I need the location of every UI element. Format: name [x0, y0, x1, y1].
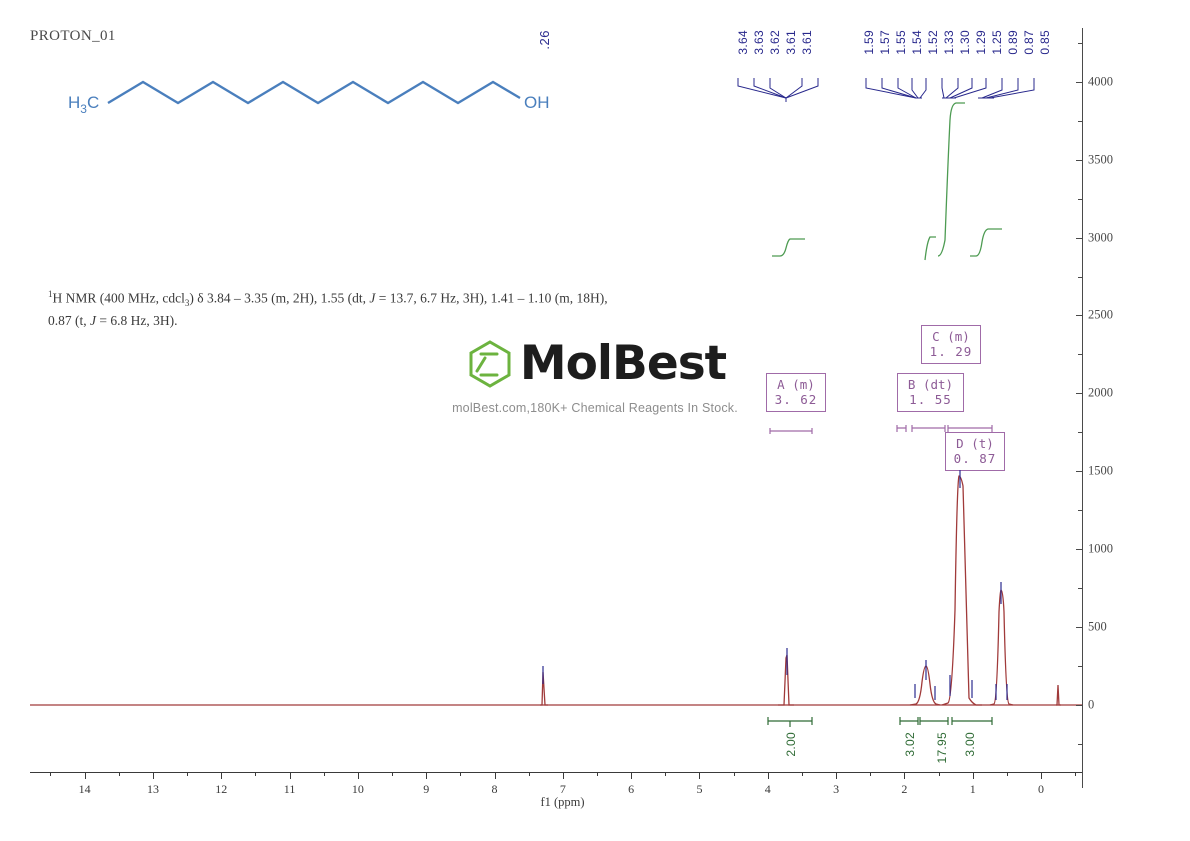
multiplet-D-id: D — [956, 436, 964, 451]
x-tick-2 — [904, 772, 905, 779]
multiplet-A-id: A — [777, 377, 785, 392]
watermark-tagline: molBest.com,180K+ Chemical Reagents In S… — [445, 401, 745, 415]
molecule-right-label: OH — [524, 93, 550, 112]
x-tick-12 — [221, 772, 222, 779]
y-tick-2500 — [1076, 315, 1083, 316]
molecule-left-label: H3C — [68, 93, 99, 116]
nmr-description: 1H NMR (400 MHz, cdcl3) δ 3.84 – 3.35 (m… — [48, 286, 608, 329]
y-minor-tick — [1078, 432, 1083, 433]
integral-markers — [760, 714, 1020, 728]
multiplet-B-type: (dt) — [923, 377, 953, 392]
y-minor-tick — [1078, 354, 1083, 355]
x-minor-tick — [665, 772, 666, 776]
peak-label-b-8: 1.25 — [990, 30, 1004, 55]
molecule-chain — [108, 82, 520, 103]
nmr-spectrum-trace — [30, 470, 1082, 710]
x-tick-13 — [153, 772, 154, 779]
integral-value-3: 3.00 — [963, 732, 977, 757]
multiplet-C-type: (m) — [947, 329, 970, 344]
nmr-line2-b: = 6.8 Hz, 3H). — [96, 313, 177, 328]
nmr-line1-a: H NMR (400 MHz, cdcl — [53, 291, 185, 306]
x-tick-1 — [973, 772, 974, 779]
y-tick-1500 — [1076, 471, 1083, 472]
peak-label-b-3: 1.54 — [910, 30, 924, 55]
x-tick-10 — [358, 772, 359, 779]
x-axis-title: f1 (ppm) — [0, 795, 1125, 810]
y-tick-1000 — [1076, 549, 1083, 550]
cdcl3-peak-label: .26 — [537, 30, 552, 50]
x-minor-tick — [460, 772, 461, 776]
peak-label-a-4: 3.61 — [800, 30, 814, 55]
y-tick-label-0: 0 — [1088, 698, 1094, 713]
peak-label-b-7: 1.29 — [974, 30, 988, 55]
peak-label-b-5: 1.33 — [942, 30, 956, 55]
x-minor-tick — [255, 772, 256, 776]
y-tick-label-2500: 2500 — [1088, 308, 1113, 323]
y-minor-tick — [1078, 744, 1083, 745]
peak-label-b-9: 0.89 — [1006, 30, 1020, 55]
y-axis-line — [1082, 28, 1083, 788]
peak-label-b-4: 1.52 — [926, 30, 940, 55]
peak-label-a-1: 3.63 — [752, 30, 766, 55]
x-minor-tick — [597, 772, 598, 776]
multiplet-box-A[interactable]: A (m) 3. 62 — [766, 373, 826, 412]
multiplet-B-shift: 1. 55 — [903, 392, 958, 407]
y-tick-3000 — [1076, 238, 1083, 239]
peak-label-b-1: 1.57 — [878, 30, 892, 55]
page-title: PROTON_01 — [30, 28, 116, 45]
x-tick-11 — [290, 772, 291, 779]
y-tick-label-1000: 1000 — [1088, 542, 1113, 557]
y-tick-label-500: 500 — [1088, 620, 1107, 635]
multiplet-brackets — [760, 420, 1020, 434]
x-minor-tick — [187, 772, 188, 776]
peak-label-b-2: 1.55 — [894, 30, 908, 55]
x-tick-8 — [495, 772, 496, 779]
x-minor-tick — [50, 772, 51, 776]
molecule-structure: H3C OH — [60, 55, 560, 125]
x-minor-tick — [734, 772, 735, 776]
multiplet-D-type: (t) — [971, 436, 994, 451]
x-tick-3 — [836, 772, 837, 779]
x-tick-7 — [563, 772, 564, 779]
watermark-brand-name: MolBest — [520, 340, 726, 388]
integral-value-2: 17.95 — [935, 732, 949, 764]
y-tick-label-3500: 3500 — [1088, 152, 1113, 167]
integration-curves — [760, 90, 1020, 260]
y-tick-2000 — [1076, 393, 1083, 394]
peak-label-a-2: 3.62 — [768, 30, 782, 55]
molbest-watermark: MolBest molBest.com,180K+ Chemical Reage… — [445, 338, 745, 415]
y-tick-label-3000: 3000 — [1088, 230, 1113, 245]
multiplet-D-shift: 0. 87 — [951, 451, 999, 466]
peak-label-b-6: 1.30 — [958, 30, 972, 55]
x-tick-0 — [1041, 772, 1042, 779]
multiplet-B-id: B — [908, 377, 916, 392]
y-tick-0 — [1076, 705, 1083, 706]
x-minor-tick — [119, 772, 120, 776]
x-minor-tick — [324, 772, 325, 776]
multiplet-box-C[interactable]: C (m) 1. 29 — [921, 325, 981, 364]
y-minor-tick — [1078, 121, 1083, 122]
integral-value-1: 3.02 — [903, 732, 917, 757]
multiplet-C-id: C — [932, 329, 940, 344]
y-minor-tick — [1078, 43, 1083, 44]
x-tick-4 — [768, 772, 769, 779]
y-minor-tick — [1078, 666, 1083, 667]
y-tick-label-4000: 4000 — [1088, 74, 1113, 89]
y-tick-label-2000: 2000 — [1088, 386, 1113, 401]
peak-label-b-11: 0.85 — [1038, 30, 1052, 55]
nmr-line1-b: ) δ 3.84 – 3.35 (m, 2H), 1.55 (dt, — [189, 291, 369, 306]
x-tick-6 — [631, 772, 632, 779]
peak-label-a-0: 3.64 — [736, 30, 750, 55]
x-minor-tick — [529, 772, 530, 776]
x-minor-tick — [870, 772, 871, 776]
x-minor-tick — [939, 772, 940, 776]
nmr-line1-c: = 13.7, 6.7 Hz, 3H), 1.41 – 1.10 — [375, 291, 551, 306]
x-tick-9 — [426, 772, 427, 779]
x-minor-tick — [1007, 772, 1008, 776]
x-tick-14 — [85, 772, 86, 779]
hexagon-logo-icon — [464, 338, 516, 390]
multiplet-C-shift: 1. 29 — [927, 344, 975, 359]
peak-label-group-a: 3.643.633.623.613.61 — [736, 30, 816, 80]
peak-label-b-10: 0.87 — [1022, 30, 1036, 55]
y-minor-tick — [1078, 510, 1083, 511]
multiplet-A-type: (m) — [792, 377, 815, 392]
multiplet-box-B[interactable]: B (dt) 1. 55 — [897, 373, 964, 412]
y-minor-tick — [1078, 277, 1083, 278]
y-tick-4000 — [1076, 82, 1083, 83]
multiplet-A-shift: 3. 62 — [772, 392, 820, 407]
x-minor-tick — [802, 772, 803, 776]
y-tick-label-1500: 1500 — [1088, 464, 1113, 479]
peak-label-b-0: 1.59 — [862, 30, 876, 55]
y-minor-tick — [1078, 588, 1083, 589]
y-tick-3500 — [1076, 160, 1083, 161]
x-minor-tick — [1075, 772, 1076, 776]
y-tick-500 — [1076, 627, 1083, 628]
x-minor-tick — [392, 772, 393, 776]
peak-label-a-3: 3.61 — [784, 30, 798, 55]
y-minor-tick — [1078, 199, 1083, 200]
peak-label-group-b: 1.591.571.551.541.521.331.301.291.250.89… — [862, 30, 1042, 80]
multiplet-box-D[interactable]: D (t) 0. 87 — [945, 432, 1005, 471]
integral-value-0: 2.00 — [784, 732, 798, 757]
x-tick-5 — [699, 772, 700, 779]
